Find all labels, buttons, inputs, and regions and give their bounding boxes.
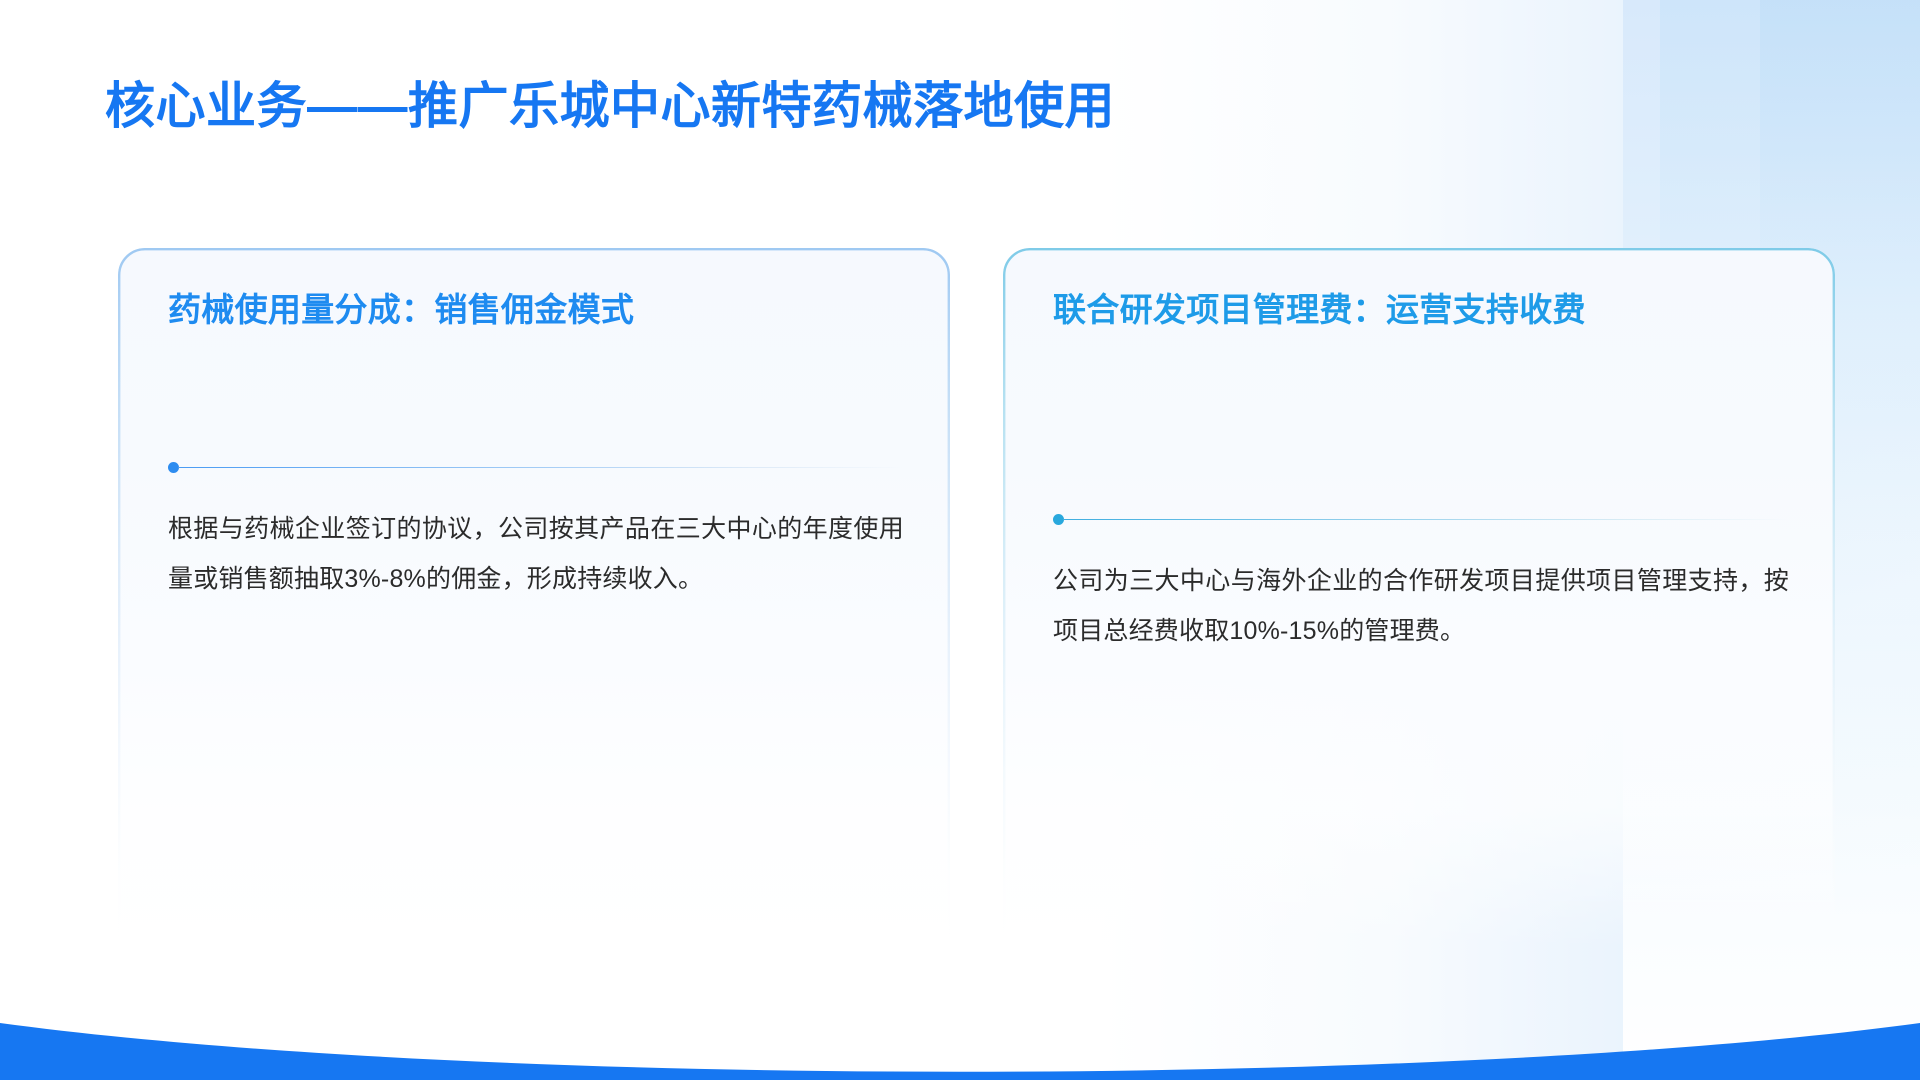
card-sales-commission[interactable]: 药械使用量分成：销售佣金模式 根据与药械企业签订的协议，公司按其产品在三大中心的… <box>118 248 950 948</box>
card-divider <box>1053 512 1789 526</box>
card-divider <box>168 460 904 474</box>
card-content: 药械使用量分成：销售佣金模式 根据与药械企业签订的协议，公司按其产品在三大中心的… <box>168 248 904 948</box>
card-content: 联合研发项目管理费：运营支持收费 公司为三大中心与海外企业的合作研发项目提供项目… <box>1053 248 1789 948</box>
card-body-text: 公司为三大中心与海外企业的合作研发项目提供项目管理支持，按项目总经费收取10%-… <box>1053 556 1789 656</box>
divider-line <box>178 467 904 469</box>
card-title: 药械使用量分成：销售佣金模式 <box>168 286 904 335</box>
cards-container: 药械使用量分成：销售佣金模式 根据与药械企业签订的协议，公司按其产品在三大中心的… <box>0 0 1920 1080</box>
card-title: 联合研发项目管理费：运营支持收费 <box>1053 286 1789 335</box>
card-body-text: 根据与药械企业签订的协议，公司按其产品在三大中心的年度使用量或销售额抽取3%-8… <box>168 504 904 604</box>
card-rnd-management-fee[interactable]: 联合研发项目管理费：运营支持收费 公司为三大中心与海外企业的合作研发项目提供项目… <box>1003 248 1835 948</box>
divider-line <box>1063 519 1789 521</box>
